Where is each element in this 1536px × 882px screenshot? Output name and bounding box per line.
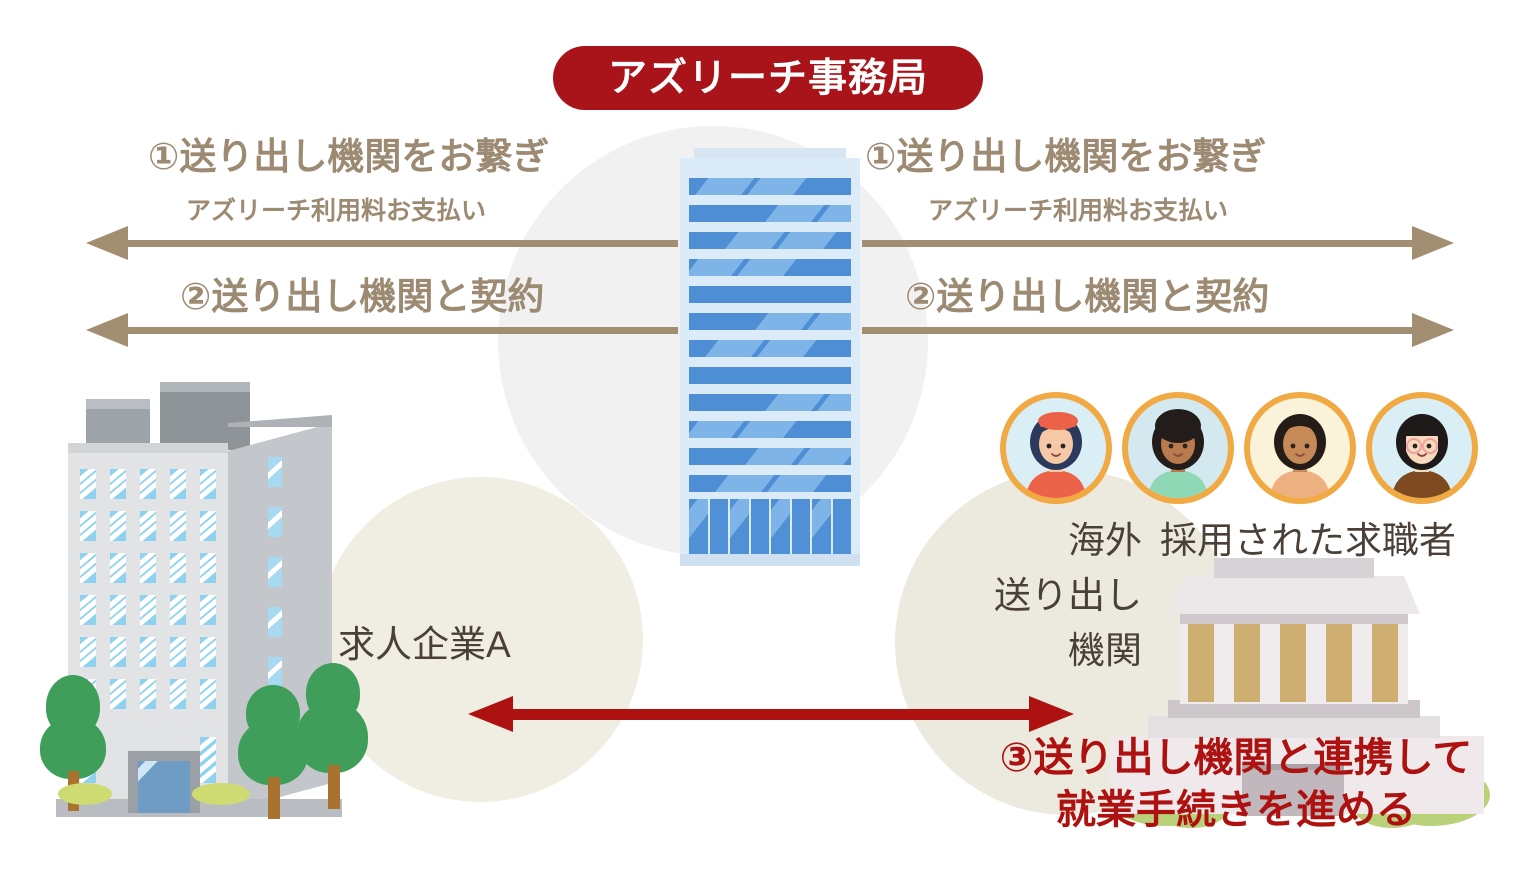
office-window (200, 469, 216, 499)
skyscraper-ground-pane (751, 499, 770, 554)
right-flow-1-label: ①送り出し機関をお繋ぎ (865, 137, 1266, 177)
skyscraper-window-band (689, 178, 851, 195)
office-window (110, 553, 126, 583)
office-window (140, 511, 156, 541)
office-window (200, 595, 216, 625)
office-building-icon (40, 385, 360, 845)
office-window (110, 511, 126, 541)
bottom-flow-label-line2: 就業手続きを進める (468, 788, 1536, 833)
tree-icon (296, 663, 368, 813)
bush-icon (58, 783, 112, 805)
office-window (80, 469, 96, 499)
office-window (140, 553, 156, 583)
skyscraper-window-band (689, 232, 851, 249)
classical-column (1326, 624, 1352, 702)
avatar-woman-red-beret (1000, 392, 1112, 504)
skyscraper-window-band (689, 448, 851, 465)
skyscraper-ground-pane (792, 499, 811, 554)
office-window (170, 679, 186, 709)
skyscraper-ground-pane (812, 499, 831, 554)
left-flow-1-sublabel: アズリーチ利用料お支払い (186, 198, 486, 225)
classical-column (1188, 624, 1214, 702)
office-window (80, 595, 96, 625)
company-label: 求人企業A (338, 622, 511, 667)
skyscraper-ground-pane (730, 499, 749, 554)
skyscraper-window-band (689, 259, 851, 276)
office-side-window (268, 507, 282, 537)
arrowhead-left-icon (86, 313, 128, 347)
office-window (200, 679, 216, 709)
office-window (200, 511, 216, 541)
skyscraper-window-band (689, 394, 851, 411)
skyscraper-ground-floor (689, 499, 851, 554)
classical-column (1280, 624, 1306, 702)
page-title: アズリーチ事務局 (608, 59, 928, 98)
office-front-cap (68, 443, 228, 453)
right-flow-2-label: ②送り出し機関と契約 (905, 277, 1269, 317)
office-window (110, 637, 126, 667)
office-window (140, 595, 156, 625)
classical-column (1372, 624, 1398, 702)
left-flow-2-arrow (86, 313, 678, 347)
classical-step (1148, 716, 1440, 738)
office-window (140, 637, 156, 667)
agency-label-line1: 海外 (894, 518, 1142, 563)
office-window (200, 637, 216, 667)
skyscraper-window-band (689, 313, 851, 330)
skyscraper-window-band (689, 205, 851, 222)
office-window (140, 679, 156, 709)
office-window (170, 511, 186, 541)
arrowhead-right-icon (1029, 696, 1074, 732)
arrow-shaft (506, 709, 1036, 720)
office-side-window (268, 457, 282, 487)
left-flow-1-label: ①送り出し機関をお繋ぎ (148, 137, 549, 177)
skyscraper-ground-pane (833, 499, 852, 554)
title-badge: アズリーチ事務局 (553, 46, 983, 110)
skyscraper-window-band (689, 367, 851, 384)
avatar-woman-bob-glasses (1366, 392, 1478, 504)
office-side-window (268, 657, 282, 687)
left-flow-1-arrow (86, 226, 678, 260)
office-window (170, 637, 186, 667)
classical-pediment (1168, 576, 1420, 614)
office-window (200, 553, 216, 583)
skyscraper-ground-pane (771, 499, 790, 554)
avatar-man-short-hair-tan-shirt (1244, 392, 1356, 504)
office-window (110, 595, 126, 625)
skyscraper-base (680, 554, 860, 566)
office-window (80, 553, 96, 583)
bottom-flow-arrow (468, 696, 1074, 732)
office-window (110, 469, 126, 499)
office-window (200, 737, 216, 783)
diagram-canvas: アズリーチ事務局 ①送り出し機関をお繋ぎ アズリーチ利用料お支払い ②送り出し機… (0, 0, 1536, 882)
skyscraper-ground-pane (710, 499, 729, 554)
office-door (138, 761, 190, 813)
right-flow-2-arrow (862, 313, 1454, 347)
arrowhead-left-icon (86, 226, 128, 260)
bush-icon (192, 783, 250, 805)
classical-column (1234, 624, 1260, 702)
office-roof-box-large (160, 390, 250, 450)
bottom-flow-label-line1: ③送り出し機関と連携して (468, 736, 1536, 781)
arrowhead-right-icon (1412, 313, 1454, 347)
office-window (80, 637, 96, 667)
skyscraper-window-band (689, 475, 851, 492)
skyscraper-window-band (689, 286, 851, 303)
office-window (110, 679, 126, 709)
skyscraper-ground-pane (689, 499, 708, 554)
office-side-window (268, 607, 282, 637)
jobseekers-label: 採用された求職者 (1160, 518, 1456, 563)
avatar-man-afro-green-shirt (1122, 392, 1234, 504)
agency-label-line2: 送り出し (894, 573, 1142, 618)
skyscraper-window-band (689, 421, 851, 438)
skyscraper-icon (680, 148, 860, 566)
office-window (140, 469, 156, 499)
office-window (80, 511, 96, 541)
office-window (170, 595, 186, 625)
skyscraper-window-band (689, 340, 851, 357)
office-window (170, 553, 186, 583)
left-flow-2-label: ②送り出し機関と契約 (180, 277, 544, 317)
right-flow-1-arrow (862, 226, 1454, 260)
office-side-window (268, 557, 282, 587)
office-window (170, 469, 186, 499)
agency-label-line3: 機関 (894, 628, 1142, 673)
right-flow-1-sublabel: アズリーチ利用料お支払い (928, 198, 1228, 225)
arrowhead-right-icon (1412, 226, 1454, 260)
